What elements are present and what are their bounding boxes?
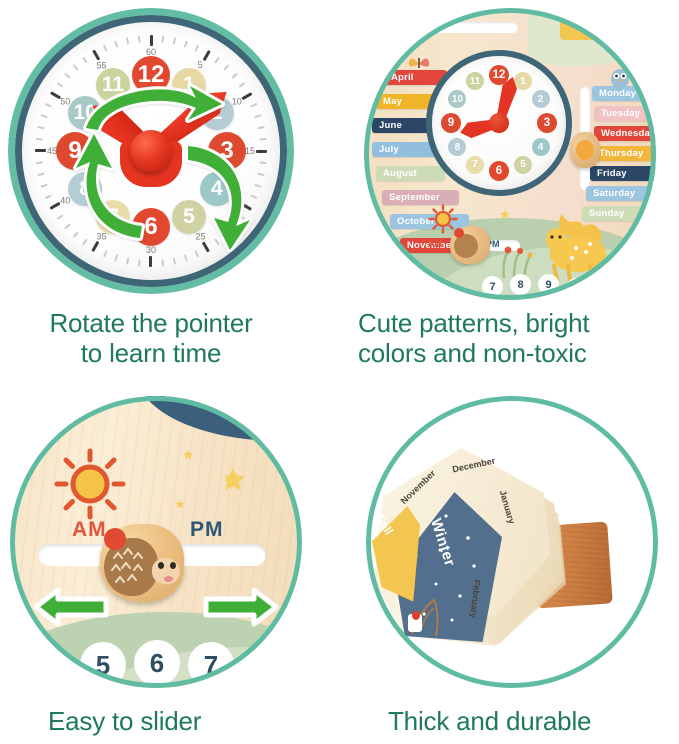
board-hour-number-6: 6 — [489, 161, 509, 181]
panel-rotate-pointer: 60510152025303540455055 121234567891011 — [8, 8, 294, 294]
rotation-arrow-left-icon — [68, 126, 156, 248]
caption-line-1: Cute patterns, bright — [358, 308, 676, 338]
wooden-board: AprilMayJuneJulyAugustSeptemberOctoberNo… — [364, 8, 656, 300]
clock-face: 60510152025303540455055 121234567891011 — [22, 22, 280, 280]
caption-line-1: Thick and durable — [388, 706, 678, 736]
month-tag-september[interactable]: September — [382, 190, 459, 205]
moon-icon — [172, 444, 258, 524]
board-hour-number-9: 9 — [441, 113, 461, 133]
top-slider-slot[interactable] — [422, 22, 518, 33]
slider-date-7[interactable]: 7 — [188, 642, 234, 688]
caption-rotate-pointer: Rotate the pointer to learn time — [6, 308, 296, 368]
board-date-7[interactable]: 7 — [482, 276, 503, 297]
caption-easy-slider: Easy to slider — [48, 706, 308, 736]
board-photo-circle: AprilMayJuneJulyAugustSeptemberOctoberNo… — [364, 8, 656, 300]
caption-line-1: Rotate the pointer — [6, 308, 296, 338]
caption-line-1: Easy to slider — [48, 706, 308, 736]
edge-photo-circle: November December January February Winte… — [366, 396, 658, 688]
board-hour-number-8: 8 — [448, 138, 466, 156]
edge-background: November December January February Winte… — [366, 396, 658, 688]
board-hour-number-10: 10 — [448, 90, 466, 108]
caption-thick-durable: Thick and durable — [388, 706, 678, 736]
day-tag-tuesday[interactable]: Tuesday — [594, 106, 656, 121]
slider-date-6[interactable]: 6 — [134, 640, 180, 686]
pm-label: PM — [190, 518, 224, 542]
deer-illustration — [532, 204, 628, 282]
right-arrow-icon[interactable] — [200, 582, 280, 632]
board-hour-number-4: 4 — [532, 138, 550, 156]
day-tag-wednesday[interactable]: Wednesday — [594, 126, 656, 141]
left-arrow-icon[interactable] — [32, 582, 112, 632]
squirrel-slider[interactable] — [570, 132, 600, 168]
moon-icon — [482, 200, 510, 228]
board-am-label: AM — [428, 239, 442, 249]
butterfly-icon — [406, 50, 432, 76]
owl-icon — [608, 64, 632, 90]
board-date-9[interactable]: 9 — [538, 274, 559, 295]
panel-thick-durable: November December January February Winte… — [366, 396, 658, 688]
board-center-knob[interactable] — [489, 113, 509, 133]
panel-easy-slider: AM PM — [10, 396, 302, 688]
sun-icon — [54, 448, 126, 520]
sun-icon — [428, 204, 458, 234]
am-label: AM — [72, 518, 107, 542]
board-hour-number-7: 7 — [466, 156, 484, 174]
season-tag-fall — [560, 14, 630, 40]
clock-photo-circle: 60510152025303540455055 121234567891011 — [8, 8, 294, 294]
day-tag-saturday[interactable]: Saturday — [586, 186, 655, 201]
board-hour-number-5: 5 — [514, 156, 532, 174]
day-tag-thursday[interactable]: Thursday — [592, 146, 656, 161]
snow-bird-head — [412, 611, 420, 620]
hedgehog-slider-knob[interactable] — [100, 524, 184, 602]
caption-line-2: colors and non-toxic — [358, 338, 676, 368]
board-mini-clock: 121234567891011 — [426, 50, 572, 196]
slider-photo-circle: AM PM — [10, 396, 302, 688]
day-tag-friday[interactable]: Friday — [590, 166, 656, 181]
board-hour-number-12: 12 — [489, 65, 509, 85]
board-hour-number-1: 1 — [514, 72, 532, 90]
hedgehog-slider[interactable] — [450, 226, 490, 264]
rotation-arrow-right-icon — [162, 134, 258, 252]
panel-cute-patterns: AprilMayJuneJulyAugustSeptemberOctoberNo… — [364, 8, 656, 300]
board-date-8[interactable]: 8 — [510, 274, 531, 295]
slider-date-5[interactable]: 5 — [80, 642, 126, 688]
feature-grid: 60510152025303540455055 121234567891011 — [0, 0, 679, 744]
board-date-10[interactable]: 10 — [566, 278, 587, 299]
board-hour-number-3: 3 — [537, 113, 557, 133]
wood-background: AM PM — [10, 396, 302, 688]
month-tag-july[interactable]: July — [372, 142, 437, 157]
caption-cute-patterns: Cute patterns, bright colors and non-tox… — [358, 308, 676, 368]
caption-line-2: to learn time — [6, 338, 296, 368]
plants-illustration — [494, 234, 536, 278]
board-hour-number-2: 2 — [532, 90, 550, 108]
rotation-arrow-top-icon — [72, 74, 228, 134]
board-hour-number-11: 11 — [466, 72, 484, 90]
